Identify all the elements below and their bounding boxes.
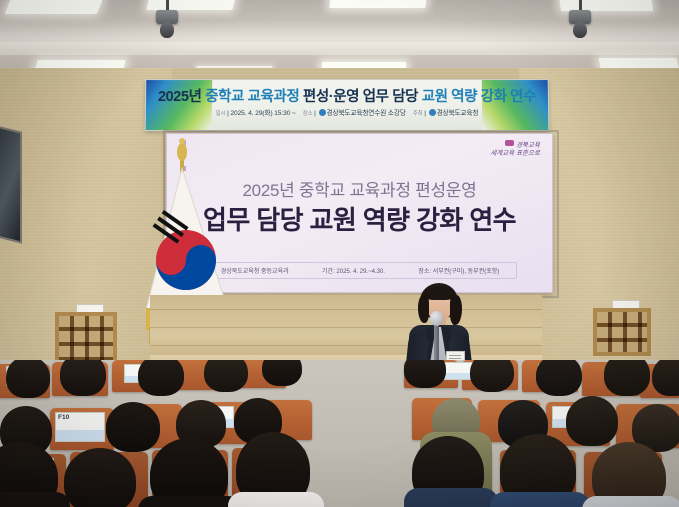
banner-title-part: 교원 역량 강화 연수 [422, 89, 536, 105]
logo-mark-icon [505, 140, 514, 146]
audience-head [204, 360, 248, 392]
audience-head [652, 360, 679, 396]
ceiling-light-cove [0, 42, 679, 55]
banner-date-value: 2025. 4. 29(화) 15:30 ~ [230, 110, 295, 117]
stage-light-fixture [156, 10, 178, 24]
lattice-alcove [593, 308, 651, 356]
audience-head [6, 360, 50, 398]
banner-title-part: 업무 담당 [363, 89, 422, 105]
audience-head [64, 448, 136, 507]
ceiling [0, 0, 679, 72]
audience-torso [582, 496, 679, 507]
banner-bullet-icon [318, 109, 325, 116]
audience-head [60, 360, 106, 396]
lattice-pattern [597, 312, 647, 352]
audience-torso [138, 496, 242, 507]
audience-head [106, 402, 160, 452]
audience-area: F10 G10 [0, 360, 679, 507]
stage-light-fixture [569, 10, 591, 24]
wall-display-monitor [0, 124, 22, 243]
presenter-hair-side [450, 295, 462, 325]
slide-footer: 경상북도교육청 중등교육과 기간: 2025. 4. 29.~4.30. 장소:… [203, 262, 517, 279]
slide-logo: 경북교육 세계교육 표준으로 [490, 140, 540, 158]
microphone-icon [430, 311, 443, 326]
stage-floor [150, 295, 542, 363]
audience-head [566, 396, 618, 446]
banner-host-value: 경상북도교육청 [437, 110, 479, 117]
presenter-hair-side [418, 295, 429, 323]
auditorium-photo: 2025년 중학교 교육과정 편성·운영 업무 담당 교원 역량 강화 연수 일… [0, 0, 679, 507]
slide-footer-period: 기간: 2025. 4. 29.~4.30. [322, 266, 385, 275]
slide-logo-line2: 세계교육 표준으로 [490, 150, 540, 158]
audience-head [536, 360, 582, 396]
slide-logo-line1: 경북교육 [490, 140, 540, 150]
audience-torso [228, 492, 324, 507]
banner-place-value: 경상북도교육청연수원 소강당 [327, 110, 406, 117]
ceiling-led-panel [329, 0, 426, 8]
audience-head [138, 360, 184, 396]
audience-torso [490, 492, 590, 507]
banner-title-part: 중학교 교육과정 [205, 89, 303, 105]
audience-head [262, 360, 302, 386]
banner-place-label: 장소 [303, 111, 313, 117]
banner-host-label: 주최 [413, 111, 423, 117]
lattice-alcove [55, 312, 117, 364]
audience-head [404, 360, 446, 388]
audience-head [470, 360, 514, 392]
slide-footer-place: 장소: 서부권(구미), 동부권(포항) [418, 266, 499, 275]
banner-subtitle: 일시 | 2025. 4. 29(화) 15:30 ~ 장소 | 경상북도교육청… [146, 107, 548, 117]
banner-bullet-icon [429, 109, 436, 116]
ceiling-led-panel [146, 0, 235, 10]
event-banner: 2025년 중학교 교육과정 편성·운영 업무 담당 교원 역량 강화 연수 일… [145, 79, 550, 131]
ceiling-led-panel [5, 0, 103, 14]
seat-placard-f10: F10 [55, 412, 105, 442]
banner-title-part: 편성·운영 [303, 89, 363, 105]
light-hanger-rod [166, 0, 169, 10]
audience-torso [0, 492, 70, 507]
banner-date-label: 일시 [216, 111, 226, 117]
seat-label: F10 [58, 414, 69, 421]
audience-head [604, 360, 650, 396]
flag-pole-finial-icon [177, 143, 187, 161]
light-hanger-rod [579, 0, 582, 10]
banner-title: 2025년 중학교 교육과정 편성·운영 업무 담당 교원 역량 강화 연수 [146, 85, 548, 106]
audience-torso [404, 488, 498, 507]
banner-title-part: 2025년 [158, 89, 205, 105]
taegeuk-icon [156, 230, 216, 290]
lattice-pattern [59, 316, 113, 360]
